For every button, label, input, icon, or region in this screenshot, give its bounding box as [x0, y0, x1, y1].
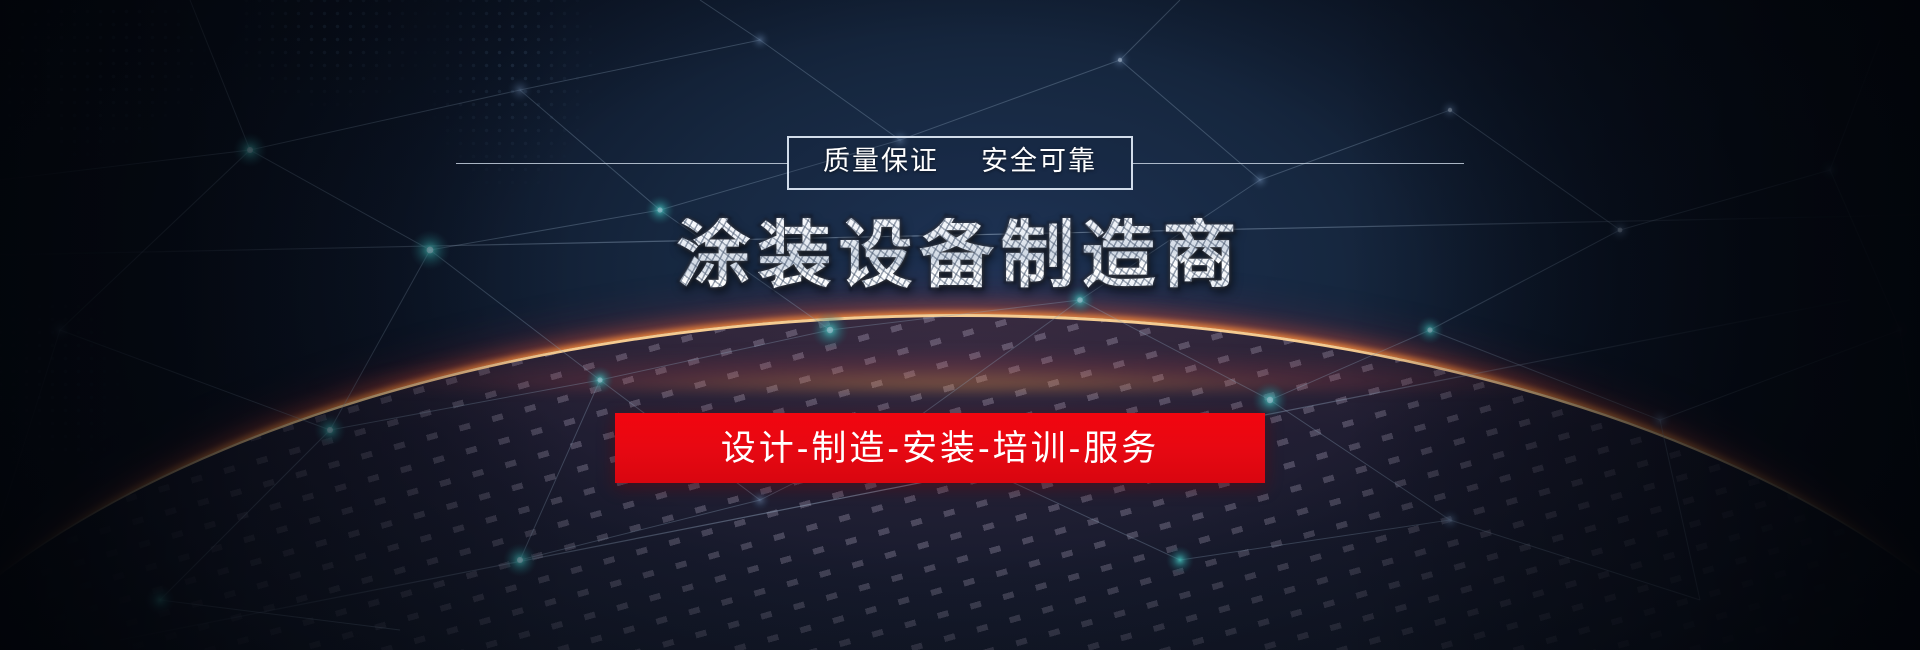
page-title: 涂装设备制造商 — [0, 218, 1920, 292]
tagline-item-quality: 质量保证 — [823, 145, 939, 179]
tagline-rule-right — [1132, 163, 1464, 164]
tagline-row: 质量保证 安全可靠 — [0, 139, 1920, 187]
tagline-item-safety: 安全可靠 — [981, 145, 1097, 179]
tagline-rule-left — [456, 163, 788, 164]
hero-banner: 质量保证 安全可靠 涂装设备制造商 涂装设备制造商 设计-制造-安装-培训-服务 — [0, 0, 1920, 650]
banner-content: 质量保证 安全可靠 涂装设备制造商 涂装设备制造商 设计-制造-安装-培训-服务 — [0, 0, 1920, 650]
services-badge-label: 设计-制造-安装-培训-服务 — [721, 431, 1160, 466]
services-badge: 设计-制造-安装-培训-服务 — [615, 413, 1265, 483]
tagline-box: 质量保证 安全可靠 — [787, 136, 1133, 190]
